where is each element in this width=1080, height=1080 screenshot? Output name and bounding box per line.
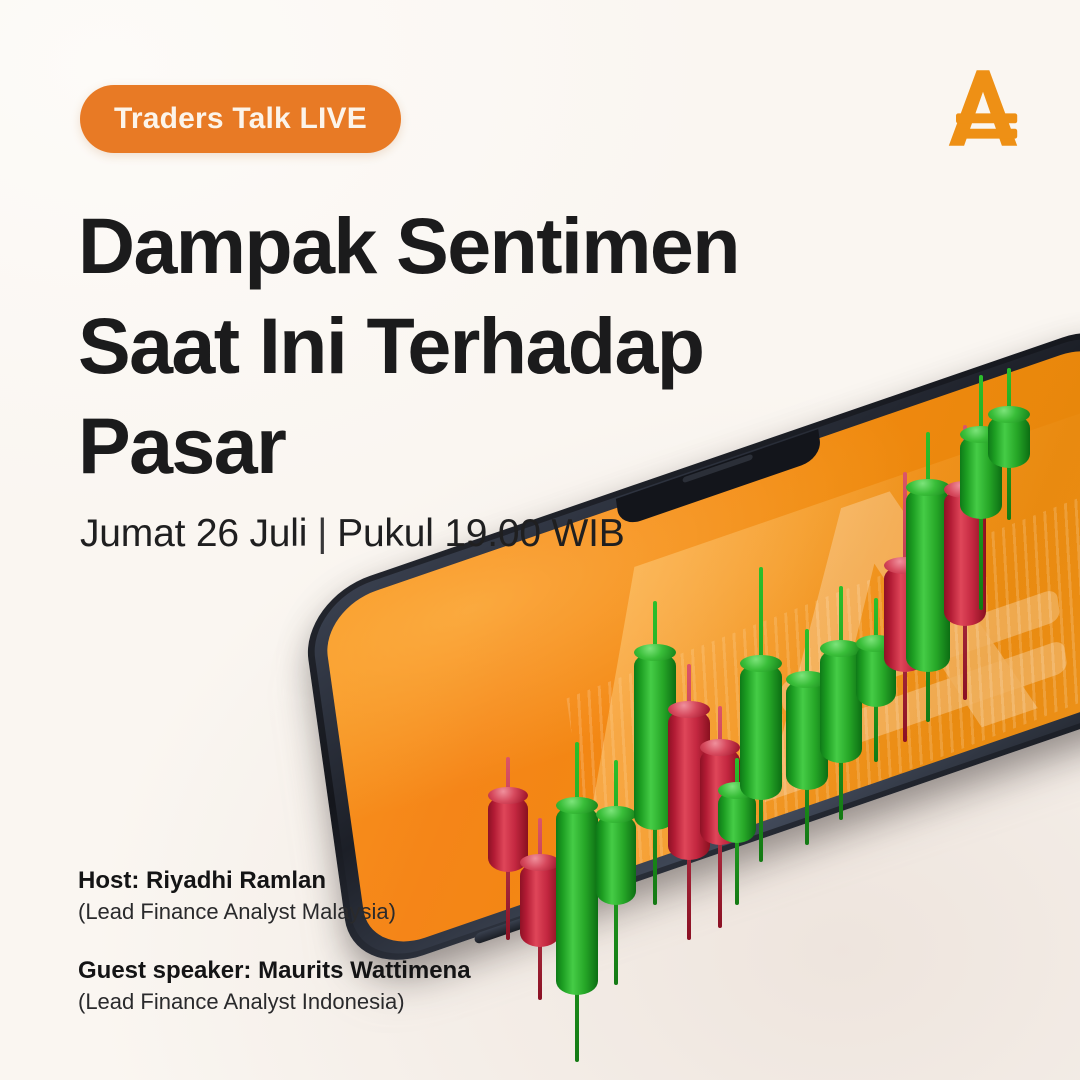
- speaker-role: (Lead Finance Analyst Indonesia): [78, 987, 471, 1016]
- page-title: Dampak Sentimen Saat Ini Terhadap Pasar: [78, 196, 838, 496]
- speaker-block: Guest speaker: Maurits Wattimena(Lead Fi…: [78, 956, 471, 1016]
- speaker-role: (Lead Finance Analyst Malaysia): [78, 897, 471, 926]
- headline-line-1: Dampak Sentimen: [78, 196, 838, 296]
- speaker-list: Host: Riyadhi Ramlan(Lead Finance Analys…: [78, 866, 471, 1016]
- schedule-time: Pukul 19.00 WIB: [337, 512, 624, 555]
- headline-line-2: Saat Ini Terhadap: [78, 296, 838, 396]
- brand-a-logo-icon: [938, 62, 1028, 154]
- promo-poster: Traders Talk LIVE Dampak Sentimen Saat I…: [0, 0, 1080, 1080]
- speaker-name: Guest speaker: Maurits Wattimena: [78, 956, 471, 987]
- schedule-date: Jumat 26 Juli: [80, 512, 307, 555]
- live-badge-label: Traders Talk LIVE: [114, 102, 367, 136]
- schedule-separator: |: [307, 512, 337, 556]
- live-badge: Traders Talk LIVE: [80, 85, 401, 153]
- schedule-line: Jumat 26 Juli|Pukul 19.00 WIB: [80, 512, 625, 556]
- speaker-block: Host: Riyadhi Ramlan(Lead Finance Analys…: [78, 866, 471, 926]
- speaker-name: Host: Riyadhi Ramlan: [78, 866, 471, 897]
- headline-line-3: Pasar: [78, 396, 838, 496]
